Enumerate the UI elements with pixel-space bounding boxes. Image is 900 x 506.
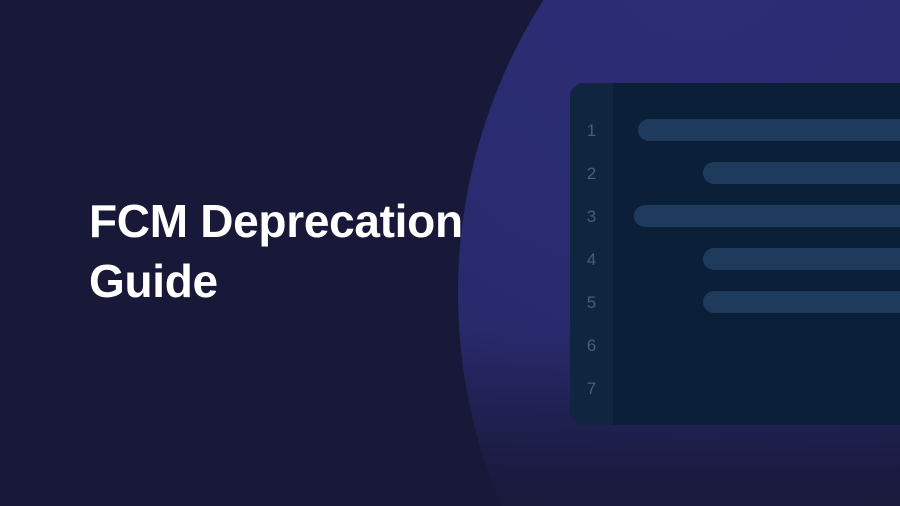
slide-canvas: FCM Deprecation Guide 1234567: [0, 0, 900, 506]
code-line-bar-1: [638, 119, 900, 141]
line-number-4: 4: [570, 251, 613, 268]
page-title: FCM Deprecation Guide: [89, 191, 509, 311]
code-line-bar-5: [703, 291, 900, 313]
line-number-6: 6: [570, 337, 613, 354]
code-editor-panel: 1234567: [570, 83, 900, 425]
line-number-3: 3: [570, 208, 613, 225]
line-number-1: 1: [570, 122, 613, 139]
code-gutter: 1234567: [570, 83, 613, 425]
title-block: FCM Deprecation Guide: [89, 191, 509, 311]
code-line-bar-2: [703, 162, 900, 184]
code-content-area: [613, 83, 900, 425]
line-number-7: 7: [570, 380, 613, 397]
code-line-bar-4: [703, 248, 900, 270]
code-line-bar-3: [634, 205, 900, 227]
line-number-5: 5: [570, 294, 613, 311]
line-number-2: 2: [570, 165, 613, 182]
